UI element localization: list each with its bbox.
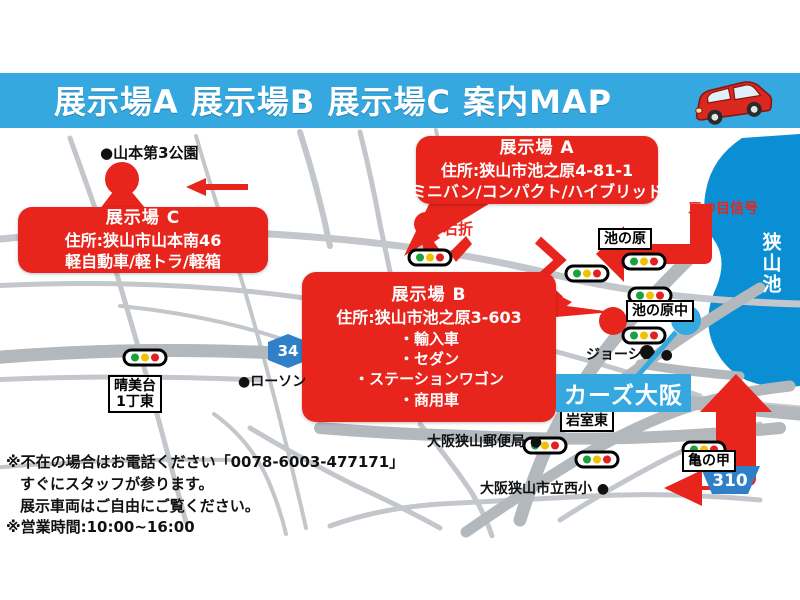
label-ikenohara: 池の原: [598, 228, 652, 250]
route-arrow-left: [186, 178, 248, 196]
callout-b-item-1: ・セダン: [399, 349, 459, 369]
label-joshin: ジョーシン ●: [586, 344, 673, 364]
label-harumidai-line1: 晴美台: [114, 378, 156, 394]
label-yamamoto-park: ●山本第3公園: [100, 142, 199, 163]
footer-notes: ※不在の場合はお電話ください「0078-6003-477171」 すぐにスタッフ…: [6, 452, 406, 539]
callout-c-title: 展示場 C: [106, 207, 180, 230]
callout-a-address: 住所:狭山市池之原4-81-1: [441, 160, 633, 182]
callout-a-vehicles: ミニバン/コンパクト/ハイブリッド: [411, 181, 663, 203]
page-title: 展示場A 展示場B 展示場C 案内MAP: [54, 76, 674, 124]
callout-showroom-b: 展示場 B 住所:狭山市池之原3-603 ・輸入車 ・セダン ・ステーションワゴ…: [302, 272, 556, 422]
label-migi-setsu: 右折: [443, 218, 473, 239]
label-osaka-sayama-post: 大阪狭山郵便局 ●: [427, 431, 542, 451]
note-line-1: ※不在の場合はお電話ください「0078-6003-477171」: [6, 452, 406, 474]
red-car-icon: [686, 74, 778, 128]
note-line-4: ※営業時間:10:00~16:00: [6, 517, 406, 539]
label-kame-no-ko: 亀の甲: [682, 450, 736, 472]
callout-b-title: 展示場 B: [392, 284, 467, 307]
showroom-c-dot: [105, 162, 139, 196]
label-ikenohara-naka: 池の原中: [626, 300, 694, 322]
callout-c-vehicles: 軽自動車/軽トラ/軽箱: [65, 251, 221, 273]
callout-a-title: 展示場 A: [499, 137, 574, 160]
callout-c-address: 住所:狭山市山本南46: [65, 230, 222, 252]
sayama-lake: [704, 134, 800, 387]
callout-showroom-a: 展示場 A 住所:狭山市池之原4-81-1 ミニバン/コンパクト/ハイブリッド: [416, 136, 658, 204]
callout-b-item-0: ・輸入車: [399, 329, 459, 349]
callout-b-item-2: ・ステーションワゴン: [354, 369, 504, 389]
label-nishi-elementary: 大阪狭山市立西小 ●: [480, 478, 609, 498]
label-harumidai: 晴美台 1丁東: [108, 375, 162, 413]
showroom-b-dot: [599, 307, 627, 335]
label-lawson: ●ローソン: [238, 371, 306, 391]
callout-showroom-c: 展示場 C 住所:狭山市山本南46 軽自動車/軽トラ/軽箱: [18, 207, 268, 273]
note-line-3: 展示車両はご自由にご覧ください。: [6, 496, 406, 518]
label-sayama-ike: 狭山池: [760, 232, 781, 295]
map-flyer: 展示場A 展示場B 展示場C 案内MAP: [0, 0, 800, 600]
callout-b-address: 住所:狭山市池之原3-603: [336, 307, 522, 329]
note-line-2: すぐにスタッフが参ります。: [6, 474, 406, 496]
callout-b-item-3: ・商用車: [399, 390, 459, 410]
label-mittsume-shingo: 三つ目信号: [688, 198, 758, 218]
label-harumidai-line2: 1丁東: [114, 394, 156, 410]
route-34-label: 34: [268, 334, 308, 368]
label-cars-osaka: カーズ大阪: [556, 374, 691, 412]
label-iwamuro-higashi: 岩室東: [560, 410, 614, 432]
